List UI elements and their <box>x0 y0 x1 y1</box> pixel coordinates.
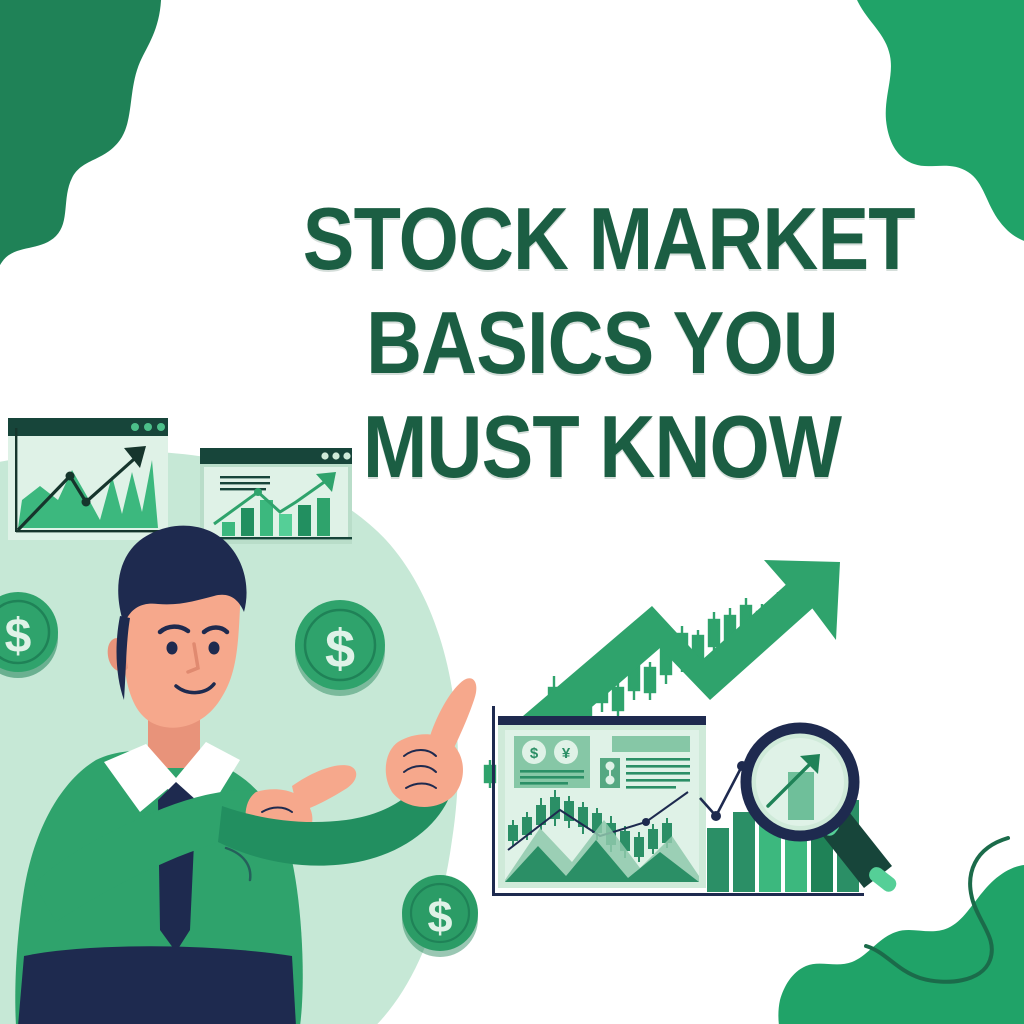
title-line-3: MUST KNOW <box>303 404 901 490</box>
magnifier-lens-bar-icon <box>788 772 814 820</box>
candle-body <box>635 838 643 856</box>
right-bar <box>733 812 755 892</box>
article-card-text-row <box>626 786 676 789</box>
article-card-header-bar <box>612 736 690 752</box>
candle-body <box>523 818 531 834</box>
candle-body <box>509 826 517 840</box>
article-card-text-row <box>626 758 690 761</box>
right-chart-node <box>711 811 721 821</box>
poster-canvas: $ $ $ <box>0 0 1024 1024</box>
coin-card-text-row <box>520 782 568 785</box>
dashboard-axis-left <box>492 706 495 896</box>
article-card-text-row <box>626 772 690 775</box>
coin-card-text-row <box>520 770 584 773</box>
title-line-2: BASICS YOU <box>303 300 901 386</box>
dashboard-titlebar <box>498 716 706 725</box>
page-title: STOCK MARKET BASICS YOU MUST KNOW <box>262 196 942 509</box>
dashboard-baseline <box>492 893 864 896</box>
dashboard-layer: $ ¥ <box>0 0 1024 1024</box>
coin-card-yen-glyph: ¥ <box>562 745 571 762</box>
dashboard-trend-node <box>642 818 650 826</box>
right-bar <box>707 828 729 892</box>
coin-card-dollar-glyph: $ <box>530 745 539 762</box>
coin-card-text-row <box>520 776 584 779</box>
article-card-text-row <box>626 779 690 782</box>
title-line-1: STOCK MARKET <box>303 196 901 282</box>
article-card-text-row <box>626 765 690 768</box>
candle-body <box>649 830 657 848</box>
coin-card: $ ¥ <box>514 736 590 788</box>
